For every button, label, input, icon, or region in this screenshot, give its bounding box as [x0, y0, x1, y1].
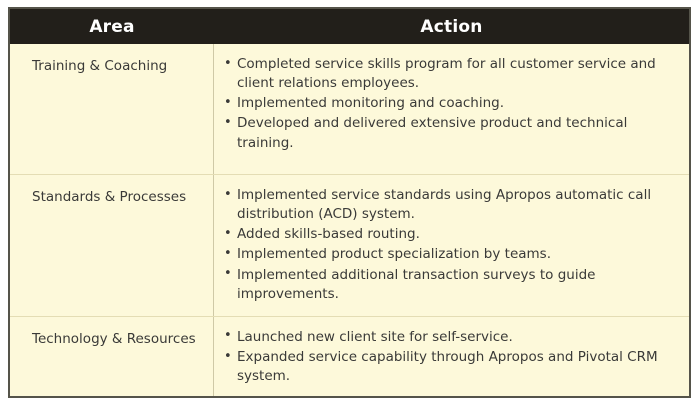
list-item: Launched new client site for self-servic… [224, 328, 675, 347]
column-header-action: Action [214, 9, 689, 44]
table-body: Training & Coaching Completed service sk… [10, 44, 689, 398]
area-action-table: Area Action Training & Coaching Complete… [8, 7, 691, 398]
table-row: Standards & Processes Implemented servic… [10, 174, 689, 316]
cell-area: Standards & Processes [10, 175, 214, 316]
action-bullet-list: Completed service skills program for all… [224, 55, 675, 153]
list-item: Implemented additional transaction surve… [224, 266, 675, 304]
list-item: Added skills-based routing. [224, 225, 675, 244]
cell-area: Training & Coaching [10, 44, 214, 174]
list-item: Completed service skills program for all… [224, 55, 675, 93]
list-item: Implemented service standards using Apro… [224, 186, 675, 224]
column-header-area: Area [10, 9, 214, 44]
table-row: Training & Coaching Completed service sk… [10, 44, 689, 174]
table-row: Technology & Resources Launched new clie… [10, 316, 689, 398]
table-header-row: Area Action [10, 9, 689, 44]
cell-area: Technology & Resources [10, 317, 214, 398]
list-item: Implemented monitoring and coaching. [224, 94, 675, 113]
cell-action: Implemented service standards using Apro… [214, 175, 689, 316]
cell-action: Launched new client site for self-servic… [214, 317, 689, 398]
action-bullet-list: Implemented service standards using Apro… [224, 186, 675, 304]
page-root: Area Action Training & Coaching Complete… [0, 0, 700, 405]
list-item: Implemented product specialization by te… [224, 245, 675, 264]
cell-action: Completed service skills program for all… [214, 44, 689, 174]
action-bullet-list: Launched new client site for self-servic… [224, 328, 675, 386]
list-item: Developed and delivered extensive produc… [224, 114, 675, 152]
list-item: Expanded service capability through Apro… [224, 348, 675, 386]
